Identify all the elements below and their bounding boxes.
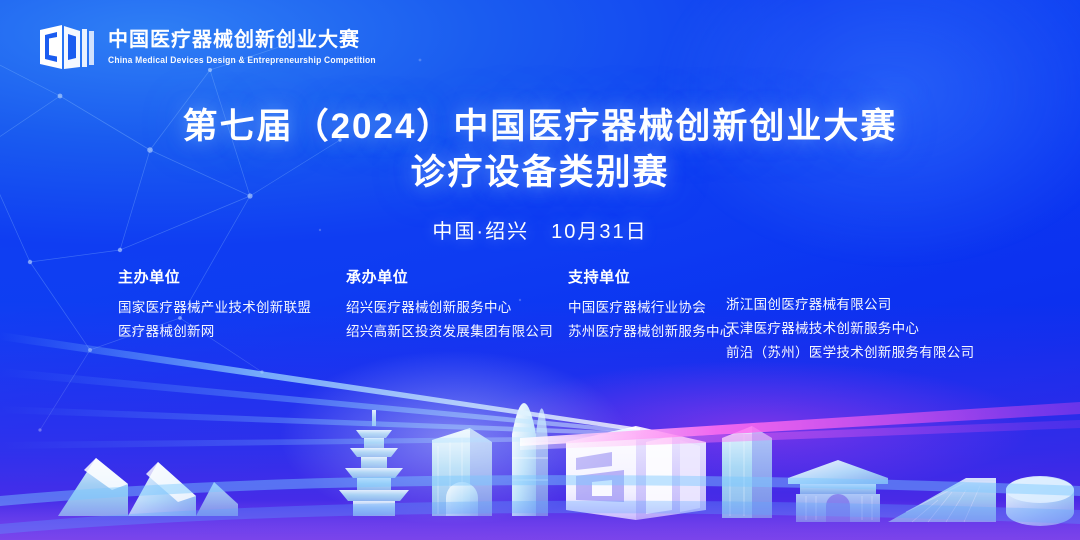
event-location-date: 中国·绍兴 10月31日 (0, 215, 1080, 244)
organizer-column-supporter-continued: 浙江国创医疗器械有限公司 天津医疗器械技术创新服务中心 前沿（苏州）医学技术创新… (726, 266, 986, 365)
organizer-heading: 主办单位 (118, 266, 346, 287)
organizer-item: 浙江国创医疗器械有限公司 (726, 293, 986, 317)
page-title-line2: 诊疗设备类别赛 (0, 150, 1080, 196)
organizer-item: 中国医疗器械行业协会 (568, 296, 726, 320)
organizers-block: 主办单位 国家医疗器械产业技术创新联盟 医疗器械创新网 承办单位 绍兴医疗器械创… (118, 266, 1010, 365)
competition-open-book-logo-icon (38, 22, 96, 72)
organizer-item: 绍兴医疗器械创新服务中心 (346, 296, 568, 320)
brand-name-en: China Medical Devices Design & Entrepren… (108, 55, 376, 65)
organizer-heading: 承办单位 (346, 266, 568, 287)
organizer-column-supporter: 支持单位 中国医疗器械行业协会 苏州医疗器械创新服务中心 (568, 266, 726, 344)
banner-canvas: 中国医疗器械创新创业大赛 China Medical Devices Desig… (0, 0, 1080, 540)
page-title-line1: 第七届（2024）中国医疗器械创新创业大赛 (0, 104, 1080, 150)
organizer-heading: 支持单位 (568, 266, 726, 287)
organizer-item: 苏州医疗器械创新服务中心 (568, 320, 726, 344)
organizer-column-host: 主办单位 国家医疗器械产业技术创新联盟 医疗器械创新网 (118, 266, 346, 344)
headline-block: 第七届（2024）中国医疗器械创新创业大赛 诊疗设备类别赛 (0, 104, 1080, 196)
organizer-item: 前沿（苏州）医学技术创新服务有限公司 (726, 341, 986, 365)
organizer-item: 天津医疗器械技术创新服务中心 (726, 317, 986, 341)
organizer-item: 绍兴高新区投资发展集团有限公司 (346, 320, 568, 344)
brand-lockup: 中国医疗器械创新创业大赛 China Medical Devices Desig… (38, 22, 376, 72)
brand-name-cn: 中国医疗器械创新创业大赛 (108, 30, 376, 50)
organizer-item: 医疗器械创新网 (118, 320, 346, 344)
organizer-item: 国家医疗器械产业技术创新联盟 (118, 296, 346, 320)
organizer-column-organizer: 承办单位 绍兴医疗器械创新服务中心 绍兴高新区投资发展集团有限公司 (346, 266, 568, 344)
